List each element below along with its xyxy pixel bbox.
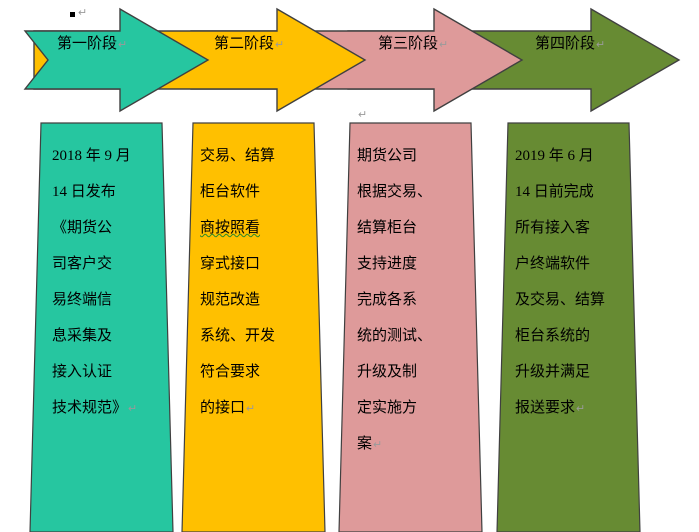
arrow-label-stage-2-text: 第二阶段: [214, 35, 274, 52]
box-4-line-5: 及交易、结算: [515, 292, 605, 308]
box-4-line-6: 柜台系统的: [515, 328, 590, 344]
pilcrow-mark-box-4: ↵: [576, 403, 585, 415]
pilcrow-mark-stage-2: ↵: [275, 39, 284, 51]
box-1-line-1: 2018 年 9 月: [52, 148, 131, 164]
box-3-line-4: 支持进度: [357, 256, 417, 272]
box-3-line-5: 完成各系: [357, 292, 417, 308]
box-2-line-6: 系统、开发: [200, 328, 275, 344]
box-1-line-8: 技术规范》: [52, 400, 127, 416]
box-1-line-3: 《期货公: [52, 220, 112, 236]
box-3-line-6: 统的测试、: [357, 328, 432, 344]
box-1-line-5: 易终端信: [52, 292, 112, 308]
box-3-line-1: 期货公司: [357, 148, 417, 164]
pilcrow-mark-stage-4: ↵: [596, 39, 605, 51]
pilcrow-mark-box-2: ↵: [246, 403, 255, 415]
box-2-line-2: 柜台软件: [200, 184, 260, 200]
box-2-line-1: 交易、结算: [200, 148, 275, 164]
box-3-line-3: 结算柜台: [357, 220, 417, 236]
stage-arrows-graphic: [0, 0, 699, 120]
stage-arrow-band: 第一阶段↵ 第二阶段↵ 第三阶段↵ 第四阶段↵: [0, 0, 699, 120]
pilcrow-mark-stage-3: ↵: [439, 39, 448, 51]
diagram-canvas: ↵ 第一阶段↵ 第二阶段↵ 第三阶段↵ 第四阶段↵ ↵: [0, 0, 699, 532]
box-1-line-2: 14 日发布: [52, 184, 116, 200]
box-4-line-7: 升级并满足: [515, 364, 590, 380]
box-1-text: 2018 年 9 月14 日发布《期货公司客户交易终端信息采集及接入认证技术规范…: [52, 138, 164, 427]
arrow-label-stage-3-text: 第三阶段: [378, 35, 438, 52]
box-3-line-2: 根据交易、: [357, 184, 432, 200]
box-4-text: 2019 年 6 月14 日前完成所有接入客户终端软件及交易、结算柜台系统的升级…: [515, 138, 633, 427]
box-4-line-3: 所有接入客: [515, 220, 590, 236]
pilcrow-mark-stage-1: ↵: [118, 39, 127, 51]
stage-detail-boxes: 2018 年 9 月14 日发布《期货公司客户交易终端信息采集及接入认证技术规范…: [0, 110, 699, 532]
box-1-line-6: 息采集及: [52, 328, 112, 344]
arrow-shape-stage-1: [25, 9, 208, 111]
box-3-line-9: 案: [357, 436, 372, 452]
box-2-line-5: 规范改造: [200, 292, 260, 308]
box-1-line-7: 接入认证: [52, 364, 112, 380]
box-4-line-2: 14 日前完成: [515, 184, 594, 200]
box-2-line-8: 的接口: [200, 400, 245, 416]
box-1-line-4: 司客户交: [52, 256, 112, 272]
arrow-label-stage-1-text: 第一阶段: [57, 35, 117, 52]
box-3-line-7: 升级及制: [357, 364, 417, 380]
arrow-label-stage-4-text: 第四阶段: [535, 35, 595, 52]
arrow-label-stage-3: 第三阶段↵: [378, 36, 448, 51]
box-2-line-3: 商按照看: [200, 220, 260, 236]
box-4-line-8: 报送要求: [515, 400, 575, 416]
box-2-line-7: 符合要求: [200, 364, 260, 380]
box-2-text: 交易、结算柜台软件商按照看穿式接口规范改造系统、开发符合要求的接口↵: [200, 138, 312, 427]
box-3-line-8: 定实施方: [357, 400, 417, 416]
pilcrow-mark-box-3: ↵: [373, 439, 382, 451]
pilcrow-mark-box-1: ↵: [128, 403, 137, 415]
box-4-line-4: 户终端软件: [515, 256, 590, 272]
arrow-label-stage-2: 第二阶段↵: [214, 36, 284, 51]
box-2-line-4: 穿式接口: [200, 256, 260, 272]
arrow-label-stage-1: 第一阶段↵: [57, 36, 127, 51]
box-3-text: 期货公司根据交易、结算柜台支持进度完成各系统的测试、升级及制定实施方案↵: [357, 138, 469, 463]
box-4-line-1: 2019 年 6 月: [515, 148, 594, 164]
arrow-label-stage-4: 第四阶段↵: [535, 36, 605, 51]
